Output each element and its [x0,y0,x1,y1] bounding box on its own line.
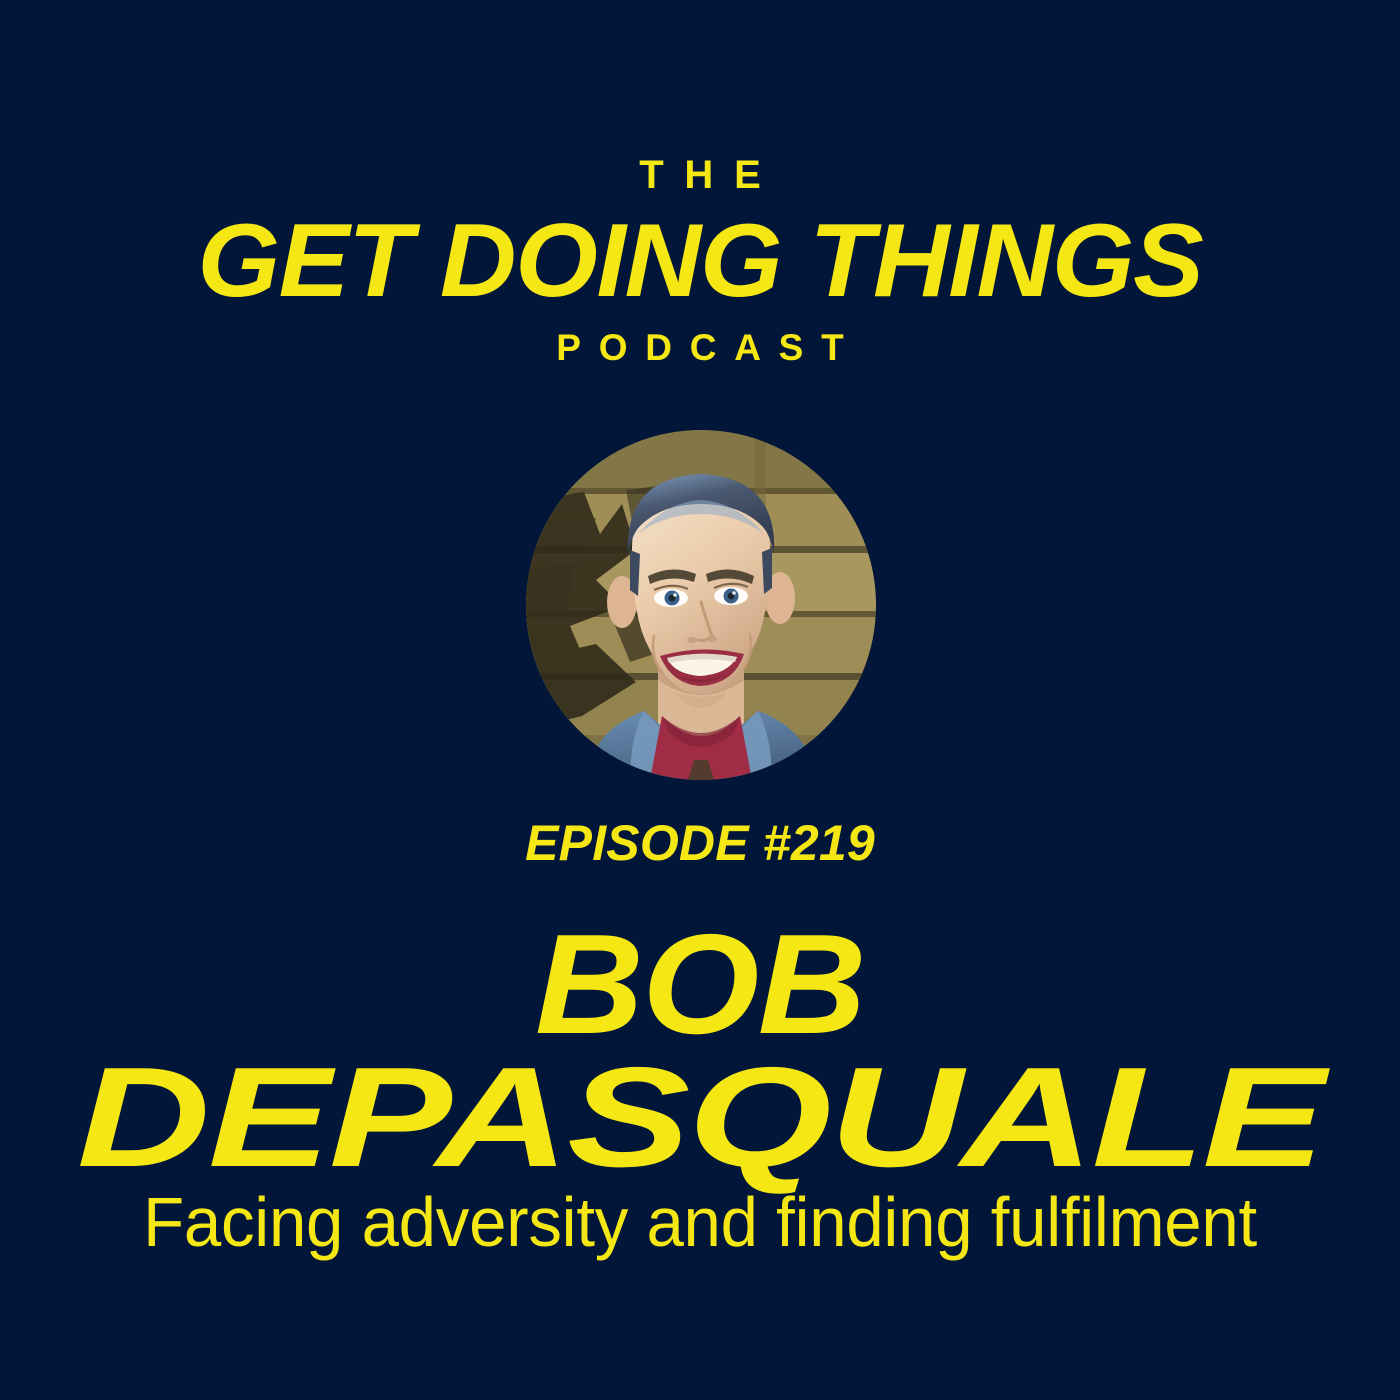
guest-first-name: BOB [0,920,1400,1051]
guest-last-name: DEPASQUALE [0,1053,1400,1184]
brand-prefix-the: THE [0,155,1400,195]
guest-portrait [526,430,876,780]
show-title: GET DOING THINGS [0,207,1400,315]
brand-suffix-podcast: PODCAST [0,329,1400,366]
guest-portrait-image [526,430,876,780]
episode-number-label: EPISODE #219 [0,818,1400,868]
podcast-episode-cover: THE GET DOING THINGS PODCAST [0,0,1400,1400]
guest-name: BOB DEPASQUALE [0,920,1400,1183]
show-branding: THE GET DOING THINGS PODCAST [0,155,1400,366]
episode-subtitle: Facing adversity and finding fulfilment [28,1186,1372,1260]
